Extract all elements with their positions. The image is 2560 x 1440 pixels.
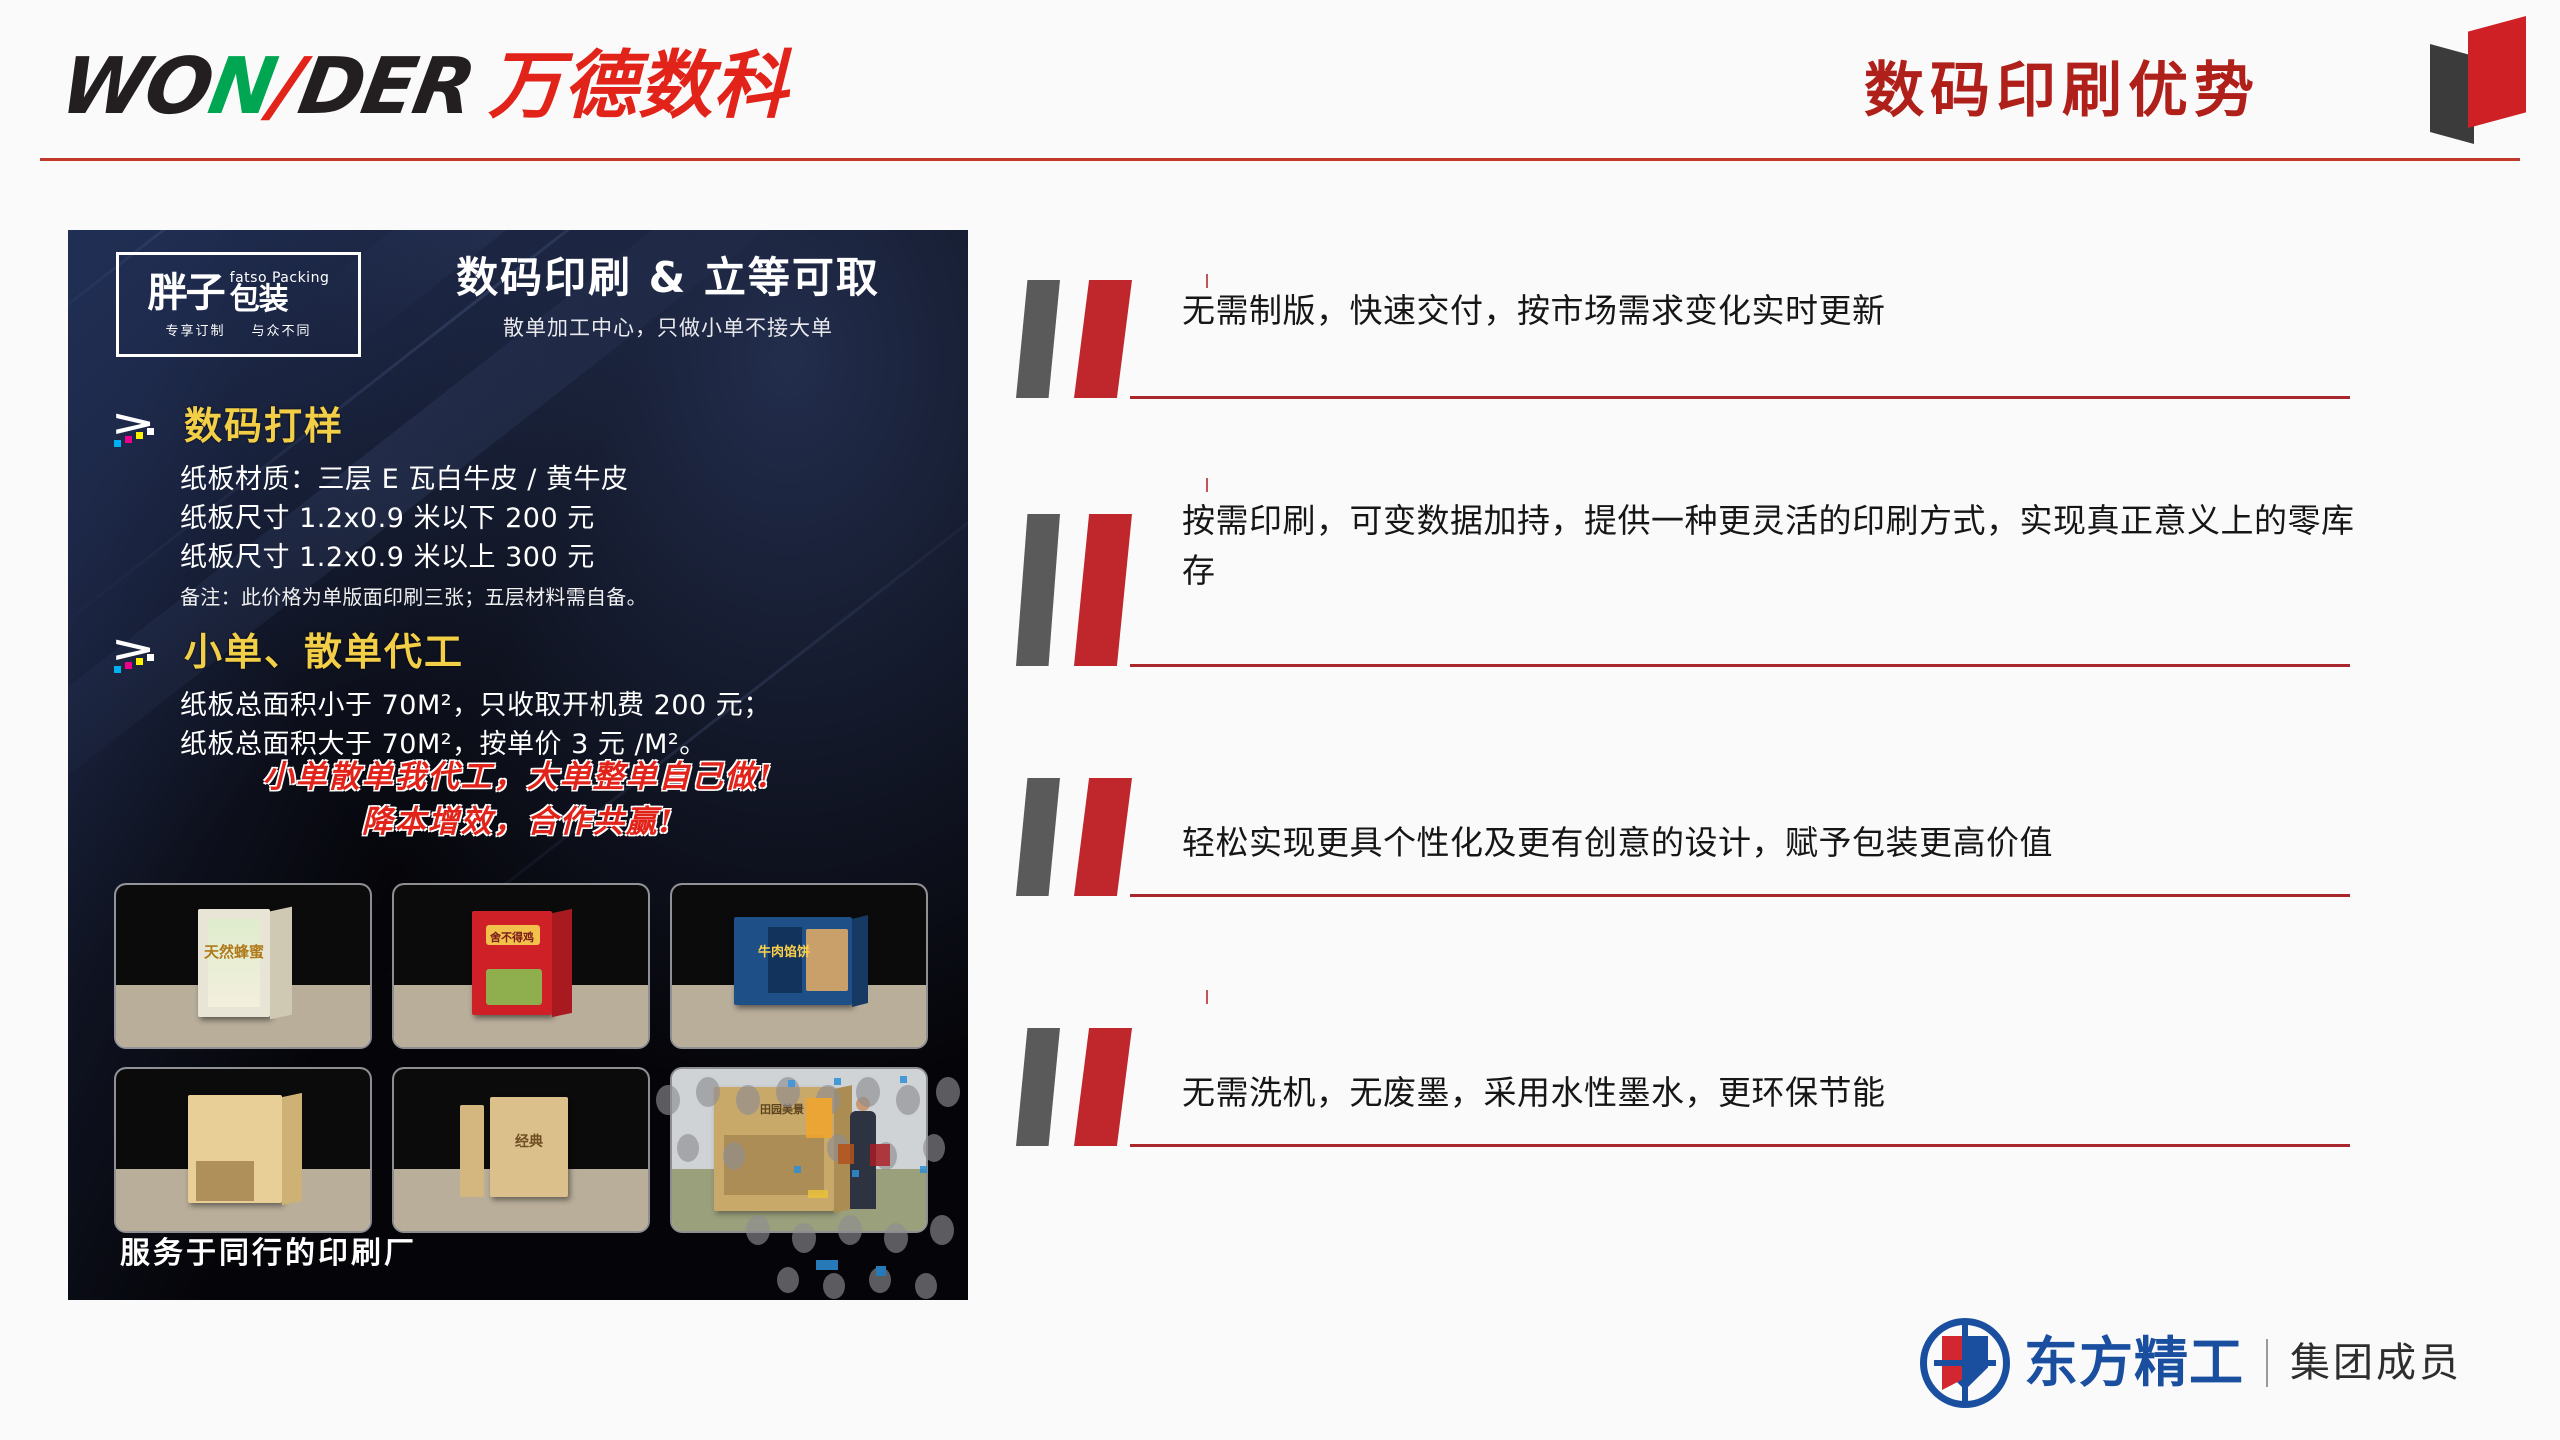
bullet-underline (1130, 396, 2350, 399)
product-caption: 牛肉馅饼 (758, 941, 810, 960)
fatso-logo-pack: 包装 (230, 285, 330, 315)
wonder-wordmark-pre: WO (54, 42, 218, 132)
poster-slogan-line-1: 小单散单我代工，大单整单自己做! (68, 755, 968, 800)
poster-section-oem: > 小单、散单代工 纸板总面积小于 70M²，只收取开机费 200 元； 纸板总… (112, 628, 932, 764)
chevron-arrow-icon: > (112, 628, 174, 676)
poster-footer-text: 服务于同行的印刷厂 (120, 1228, 417, 1272)
product-photo: 舍不得鸡 (394, 885, 648, 1047)
fatso-logo-tag-right: 与众不同 (252, 320, 312, 339)
poster-section-title: 小单、散单代工 (184, 633, 464, 671)
corner-dark-shape (2430, 44, 2474, 144)
product-photo (116, 1069, 370, 1231)
poster-slogan-line-2: 降本增效，合作共赢! (68, 800, 968, 845)
bullet-bar-gray (1016, 778, 1060, 896)
header-divider (40, 158, 2520, 161)
bullet-bar-red (1074, 280, 1132, 398)
poster-headline: 数码印刷 & 立等可取 (398, 254, 938, 302)
bullet-bar-gray (1016, 280, 1060, 398)
wonder-wordmark-post: DER (292, 42, 480, 132)
wonder-logo: WON/DER 万德数科 (62, 48, 788, 120)
chevron-arrow-icon: > (112, 402, 174, 450)
advantage-text: 无需洗机，无废墨，采用水性墨水，更环保节能 (1182, 1006, 2350, 1118)
poster-subhead: 散单加工中心，只做小单不接大单 (398, 312, 938, 342)
product-photo: 天然蜂蜜 (116, 885, 370, 1047)
wonder-wordmark: WON/DER (56, 54, 478, 120)
poster-section-title: 数码打样 (184, 407, 344, 445)
advantage-text: 轻松实现更具个性化及更有创意的设计，赋予包装更高价值 (1182, 778, 2350, 868)
bullet-marker-icon (1010, 778, 1180, 896)
bullet-bar-gray (1016, 1028, 1060, 1146)
bullet-underline (1130, 664, 2350, 667)
group-member-logo: 东方精工 集团成员 (1920, 1318, 2462, 1408)
bullet-bar-red (1074, 778, 1132, 896)
bullet-underline (1130, 894, 2350, 897)
page-title: 数码印刷优势 (1864, 42, 2260, 129)
poster-section-line: 纸板材质：三层 E 瓦白牛皮 / 黄牛皮 (180, 460, 932, 499)
footer-member-label: 集团成员 (2290, 1343, 2462, 1383)
advantages-list: 无需制版，快速交付，按市场需求变化实时更新 按需印刷，可变数据加持，提供一种更灵… (1010, 280, 2350, 1166)
bullet-marker-icon (1010, 280, 1180, 398)
advantage-item: 按需印刷，可变数据加持，提供一种更灵活的印刷方式，实现真正意义上的零库存 (1010, 478, 2350, 668)
brand-chinese-name: 万德数科 (488, 53, 788, 120)
bullet-bar-gray (1016, 514, 1060, 666)
advantage-item: 无需制版，快速交付，按市场需求变化实时更新 (1010, 280, 2350, 408)
poster-header: 胖子 fatso Packing 包装 专享订制 与众不同 数码印刷 & 立等可… (68, 230, 968, 380)
product-photo: 经典 (394, 1069, 648, 1231)
bullet-bar-red (1074, 514, 1132, 666)
dot-pattern-decoration (638, 1070, 968, 1300)
bullet-tick (1206, 274, 1208, 288)
fatso-logo-cn: 胖子 (148, 273, 224, 313)
poster-section-line: 纸板尺寸 1.2x0.9 米以下 200 元 (180, 499, 932, 538)
poster-slogan: 小单散单我代工，大单整单自己做! 降本增效，合作共赢! (68, 755, 968, 845)
product-caption: 天然蜂蜜 (204, 941, 264, 962)
bullet-marker-icon (1010, 514, 1180, 666)
poster-section-line: 纸板尺寸 1.2x0.9 米以上 300 元 (180, 538, 932, 577)
corner-red-shape (2468, 16, 2526, 128)
product-photo: 牛肉馅饼 (672, 885, 926, 1047)
product-caption: 经典 (515, 1131, 543, 1151)
bullet-bar-red (1074, 1028, 1132, 1146)
bullet-tick (1206, 990, 1208, 1004)
poster-section-line: 纸板总面积小于 70M²，只收取开机费 200 元； (180, 686, 932, 725)
fatso-logo-tag-left: 专享订制 (165, 320, 225, 339)
bullet-tick (1206, 478, 1208, 492)
bullet-underline (1130, 1144, 2350, 1147)
advantage-text: 按需印刷，可变数据加持，提供一种更灵活的印刷方式，实现真正意义上的零库存 (1182, 478, 2362, 595)
footer-divider (2266, 1339, 2268, 1387)
dongfang-jinggong-icon (1920, 1318, 2010, 1408)
corner-decoration-icon (2430, 6, 2540, 156)
poster-headline-block: 数码印刷 & 立等可取 散单加工中心，只做小单不接大单 (398, 254, 938, 342)
footer-company-name: 东方精工 (2024, 1336, 2244, 1390)
promo-poster-image: 胖子 fatso Packing 包装 专享订制 与众不同 数码印刷 & 立等可… (68, 230, 968, 1300)
advantage-text: 无需制版，快速交付，按市场需求变化实时更新 (1182, 280, 2350, 336)
fatso-packing-logo: 胖子 fatso Packing 包装 专享订制 与众不同 (116, 252, 361, 357)
bullet-marker-icon (1010, 1028, 1180, 1146)
advantage-item: 轻松实现更具个性化及更有创意的设计，赋予包装更高价值 (1010, 778, 2350, 906)
poster-section-proofing: > 数码打样 纸板材质：三层 E 瓦白牛皮 / 黄牛皮 纸板尺寸 1.2x0.9… (112, 402, 932, 610)
advantage-item: 无需洗机，无废墨，采用水性墨水，更环保节能 (1010, 1006, 2350, 1146)
slide-header: WON/DER 万德数科 数码印刷优势 (0, 0, 2560, 170)
product-caption: 舍不得鸡 (490, 929, 534, 945)
poster-section-note: 备注：此价格为单版面印刷三张；五层材料需自备。 (180, 581, 932, 610)
